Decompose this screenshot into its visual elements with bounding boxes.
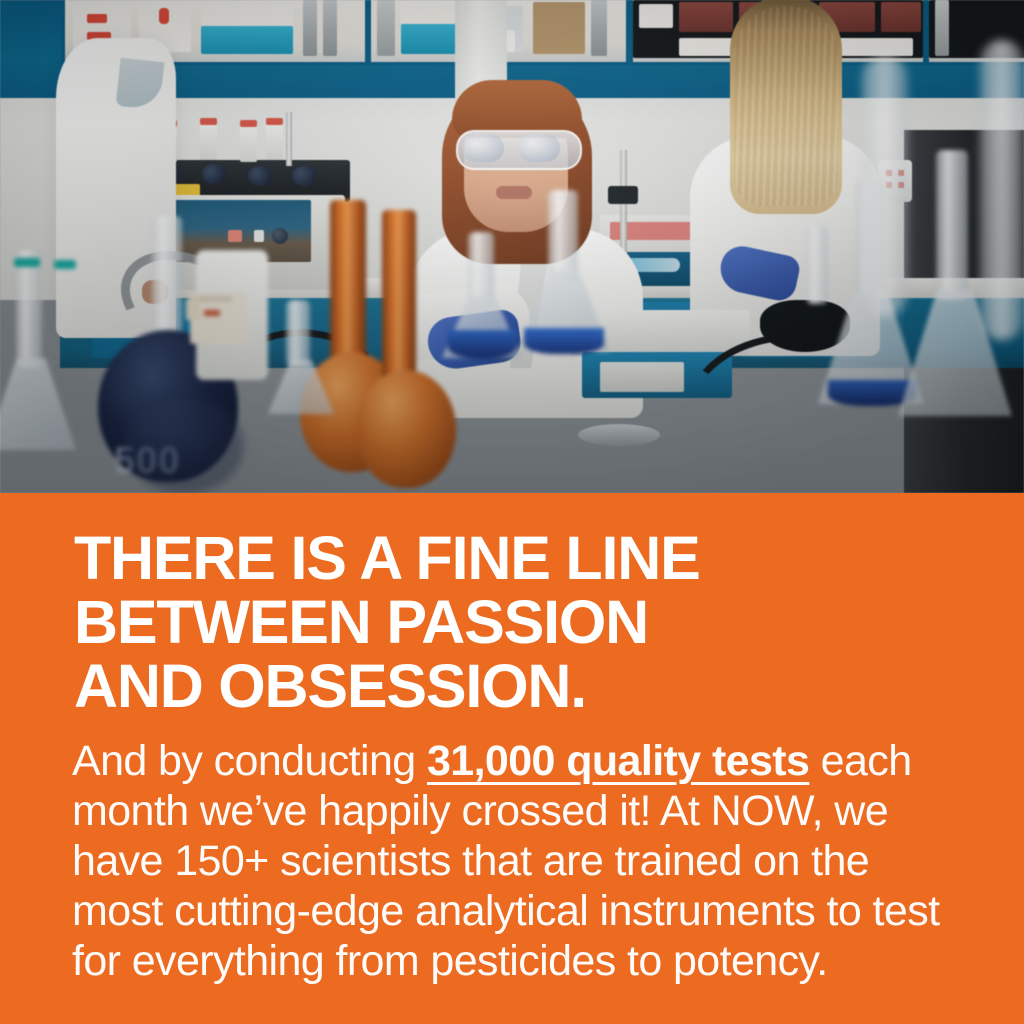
- body-text-before: And by conducting: [72, 737, 427, 785]
- foreground-bokeh: [0, 0, 1024, 493]
- page-title: THERE IS A FINE LINE BETWEEN PASSION AND…: [74, 526, 974, 718]
- orange-text-panel: THERE IS A FINE LINE BETWEEN PASSION AND…: [0, 493, 1024, 1024]
- bokeh-blob: [124, 398, 244, 493]
- bokeh-glassware: [980, 40, 1024, 340]
- lab-scene: 500: [0, 0, 1024, 493]
- body-paragraph: And by conducting 31,000 quality tests e…: [72, 736, 952, 986]
- bokeh-glassware: [862, 56, 908, 316]
- lab-photo: 500: [0, 0, 1024, 493]
- quality-tests-highlight: 31,000 quality tests: [427, 737, 809, 785]
- promo-poster: 500: [0, 0, 1024, 1024]
